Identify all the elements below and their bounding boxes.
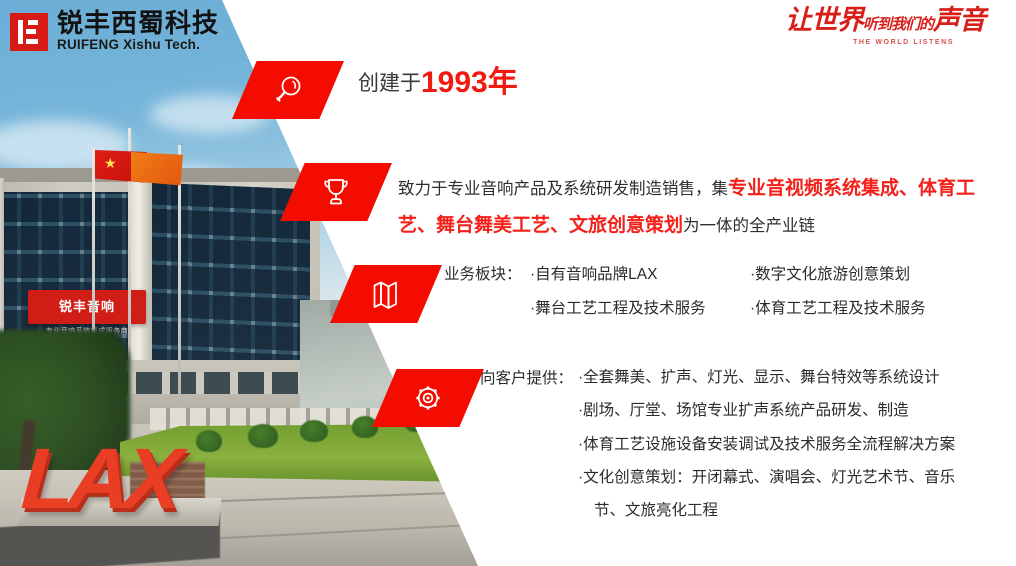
brand-logo: 锐丰西蜀科技 RUIFENG Xishu Tech. (10, 10, 219, 53)
bush (248, 424, 278, 448)
map-icon-badge[interactable] (330, 265, 442, 323)
slogan-calligraphy: 让世界听到我们的声音 THE WORLD LISTENS (785, 6, 990, 54)
map-icon (369, 277, 403, 311)
gear-icon (411, 381, 445, 415)
building-pillar (128, 180, 152, 380)
business-segment-item: ·自有音响品牌LAX (530, 262, 750, 284)
description-part-2: 为一体的全产业链 (683, 217, 815, 235)
slogan-cn: 让世界听到我们的声音 (785, 6, 990, 39)
row-founded: 创建于1993年 (358, 64, 518, 102)
bush (352, 416, 378, 438)
offering-item: ·文化创意策划：开闭幕式、演唱会、灯光艺术节、音乐 (578, 466, 1016, 489)
orange-flag (131, 152, 183, 186)
flag-star-icon: ★ (104, 156, 117, 170)
row-customer-offerings: 向客户提供： ·全套舞美、扩声、灯光、显示、舞台特效等系统设计 ·剧场、厅堂、场… (480, 366, 1016, 522)
founded-label: 创建于 (358, 72, 421, 95)
slide-root: 锐丰音响 专业音响系统集成服务商 ★ LAX (0, 0, 1016, 566)
slogan-cn-part1: 让世界 (785, 5, 863, 36)
brand-name-cn: 锐丰西蜀科技 (57, 10, 219, 37)
brand-name-en: RUIFENG Xishu Tech. (57, 37, 219, 53)
row-company-description: 致力于专业音响产品及系统研发制造销售，集专业音视频系统集成、体育工艺、舞台舞美工… (398, 170, 998, 244)
description-part-1: 致力于专业音响产品及系统研发制造销售，集 (398, 180, 728, 198)
slogan-cn-part2: 听到我们的 (863, 15, 933, 33)
bush (196, 430, 222, 452)
slogan-en: THE WORLD LISTENS (853, 39, 954, 46)
lax-sign: LAX (19, 436, 179, 522)
founded-year: 1993年 (421, 66, 518, 99)
business-segment-item: ·数字文化旅游创意策划 (750, 262, 1004, 284)
offering-item: ·全套舞美、扩声、灯光、显示、舞台特效等系统设计 (578, 366, 1016, 389)
ruifeng-fe-monogram-icon (10, 13, 48, 51)
offering-item: ·剧场、厅堂、场馆专业扩声系统产品研发、制造 (578, 399, 1016, 422)
building-sign-text: 锐丰音响 (34, 296, 140, 315)
row-business-segments: 业务板块： ·自有音响品牌LAX ·数字文化旅游创意策划 ·舞台工艺工程及技术服… (444, 262, 1004, 318)
magnifier-icon (271, 73, 305, 107)
business-segment-item: ·舞台工艺工程及技术服务 (530, 296, 750, 318)
slogan-cn-part3: 声音 (933, 5, 985, 36)
bush (300, 420, 328, 442)
offering-item-continued: 节、文旅亮化工程 (578, 499, 1016, 522)
business-segment-item: ·体育工艺工程及技术服务 (750, 296, 1004, 318)
offering-item: ·体育工艺设施设备安装调试及技术服务全流程解决方案 (578, 433, 1016, 456)
trophy-icon (319, 175, 353, 209)
customer-offerings-label: 向客户提供： (480, 366, 578, 388)
business-segments-label: 业务板块： (444, 262, 530, 284)
